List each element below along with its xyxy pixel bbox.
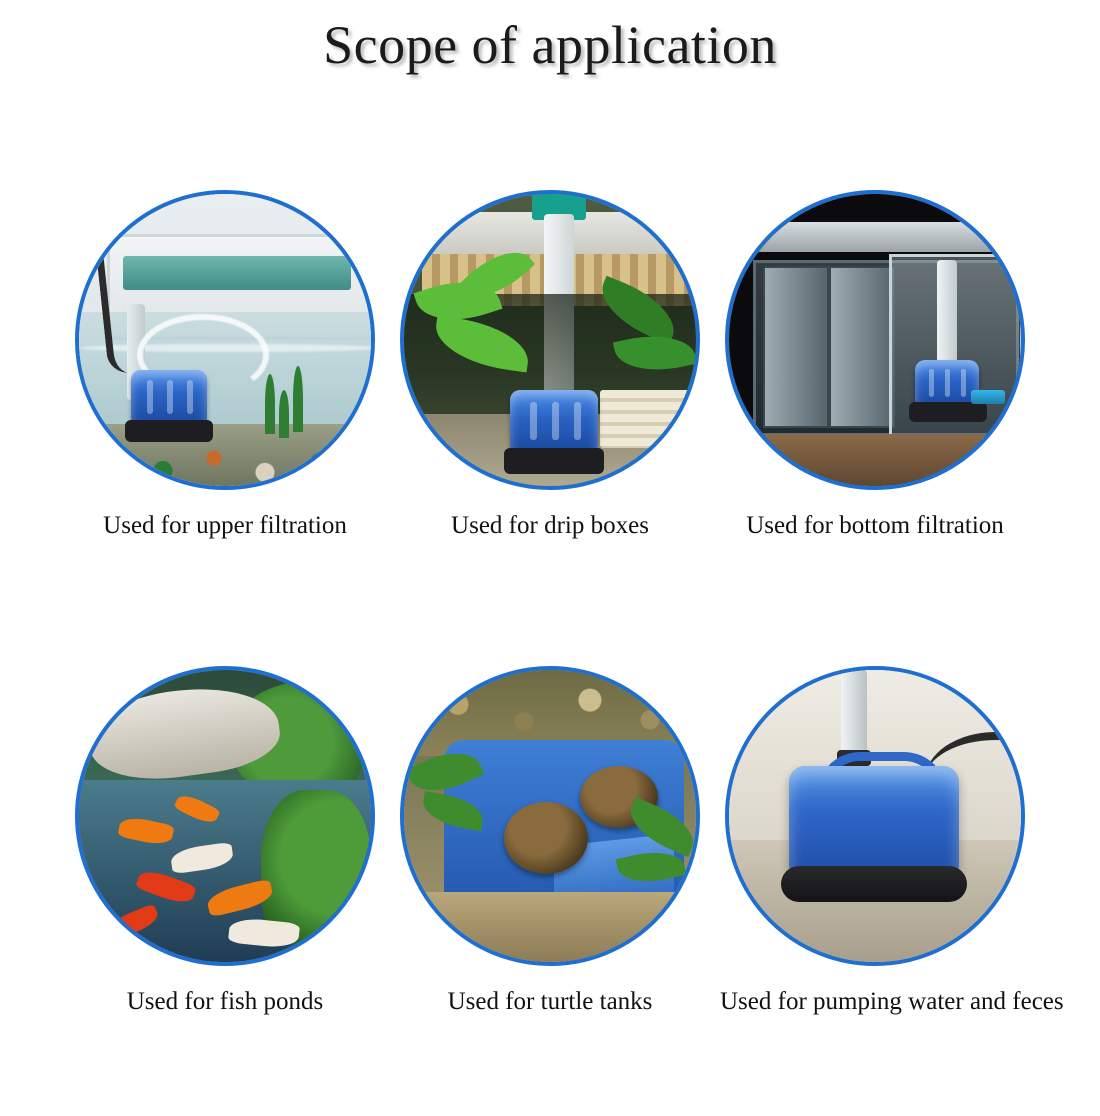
pump-ridge xyxy=(945,369,950,397)
aquatic-plant xyxy=(279,390,289,438)
photo-circle-bottom-filtration xyxy=(725,190,1025,490)
grid-cell-drip-boxes[interactable]: Used for drip boxes xyxy=(395,190,705,540)
outlet-pipe xyxy=(841,670,867,756)
pump-ridge xyxy=(574,402,581,440)
sand-floor xyxy=(404,892,700,962)
scene-pump-closeup xyxy=(729,670,1021,962)
pump-strainer-base xyxy=(909,402,987,422)
page-title: Scope of application xyxy=(0,14,1100,76)
photo-circle-pumping-water xyxy=(725,666,1025,966)
grid-cell-upper-filtration[interactable]: Used for upper filtration xyxy=(70,190,380,540)
photo-frame xyxy=(725,190,1025,490)
wood-floor xyxy=(729,434,1025,486)
cell-caption: Used for bottom filtration xyxy=(720,512,1030,540)
aquatic-plant xyxy=(293,366,303,432)
filter-box-media xyxy=(123,256,351,290)
photo-frame xyxy=(400,190,700,490)
pump-strainer-base xyxy=(125,420,213,442)
cell-caption: Used for turtle tanks xyxy=(395,988,705,1016)
photo-circle-upper-filtration xyxy=(75,190,375,490)
grid-cell-pumping-water[interactable]: Used for pumping water and feces xyxy=(720,666,1030,1016)
tank-lid xyxy=(729,222,1025,252)
page-root: Scope of application xyxy=(0,0,1100,1100)
cabinet-door xyxy=(763,266,829,428)
cabinet-door xyxy=(829,266,895,428)
scene-koi-pond xyxy=(79,670,371,962)
pump-ridge xyxy=(167,380,173,414)
return-pipe xyxy=(937,260,957,370)
pump-ridge xyxy=(929,369,934,397)
pump-ridge xyxy=(187,380,193,414)
scene-turtle-tank xyxy=(404,670,696,962)
white-crate xyxy=(600,390,696,448)
water-pump-body xyxy=(510,390,598,452)
cell-caption: Used for fish ponds xyxy=(70,988,380,1016)
pump-ridge xyxy=(961,369,966,397)
scene-cabinet-bottom-filtration xyxy=(729,194,1021,486)
gravel-bed xyxy=(79,424,375,486)
water-pump-body xyxy=(915,360,979,406)
scene-terrarium-drip-box xyxy=(404,194,696,486)
scene-aquarium-upper-filtration xyxy=(79,194,371,486)
grid-cell-fish-ponds[interactable]: Used for fish ponds xyxy=(70,666,380,1016)
cell-caption: Used for pumping water and feces xyxy=(720,988,1030,1016)
photo-frame xyxy=(75,666,375,966)
photo-frame xyxy=(725,666,1025,966)
grid-cell-bottom-filtration[interactable]: Used for bottom filtration xyxy=(720,190,1030,540)
water-pump-body xyxy=(131,370,207,424)
grid-cell-turtle-tanks[interactable]: Used for turtle tanks xyxy=(395,666,705,1016)
pump-ridge xyxy=(552,402,559,440)
grid-row-2: Used for fish ponds xyxy=(0,666,1100,1116)
photo-circle-drip-boxes xyxy=(400,190,700,490)
cell-caption: Used for drip boxes xyxy=(395,512,705,540)
photo-circle-fish-ponds xyxy=(75,666,375,966)
pump-ridge xyxy=(530,402,537,440)
pump-ridge xyxy=(147,380,153,414)
cell-caption: Used for upper filtration xyxy=(70,512,380,540)
water-pump-body xyxy=(789,766,959,874)
photo-circle-turtle-tanks xyxy=(400,666,700,966)
grid-row-1: Used for upper filtration xyxy=(0,190,1100,640)
photo-frame xyxy=(75,190,375,490)
pump-strainer-base xyxy=(781,866,967,902)
application-scope-grid: Used for upper filtration xyxy=(0,190,1100,1116)
aquatic-plant xyxy=(265,374,275,434)
pump-strainer-base xyxy=(504,448,604,474)
hose-fitting xyxy=(971,390,1005,404)
turtle xyxy=(504,802,588,874)
photo-frame xyxy=(400,666,700,966)
